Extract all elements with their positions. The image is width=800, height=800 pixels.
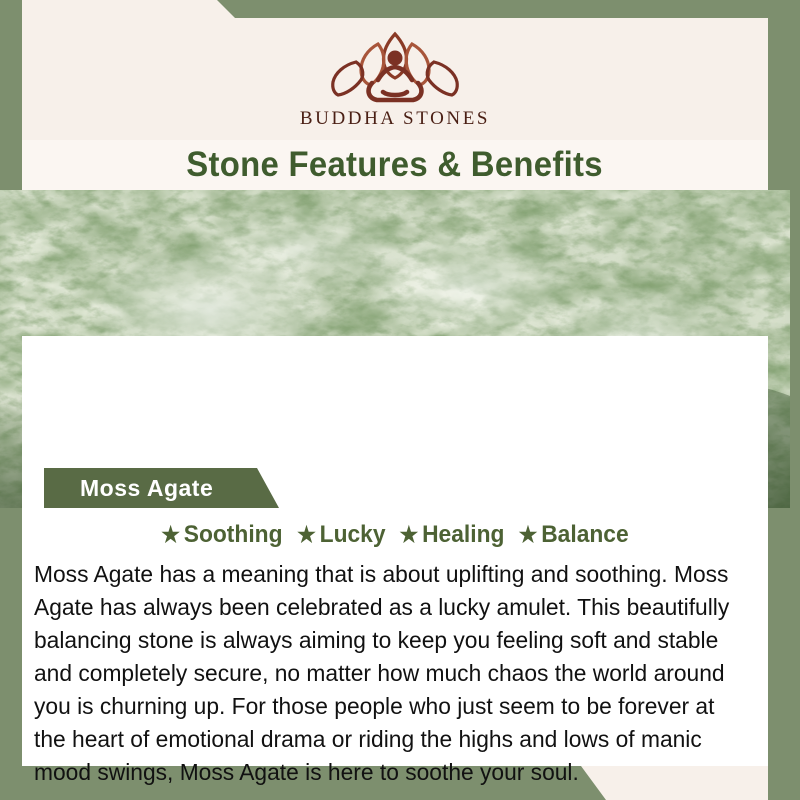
- page-title: Stone Features & Benefits: [187, 145, 604, 185]
- keyword-balance: ★ Balance: [510, 521, 629, 549]
- frame-top-accent: [0, 0, 800, 18]
- keyword-label: Balance: [541, 521, 628, 549]
- keyword-label: Healing: [422, 521, 504, 549]
- lotus-meditation-icon: [320, 28, 470, 106]
- keyword-label: Lucky: [319, 521, 385, 549]
- star-icon: ★: [519, 524, 538, 546]
- brand-header: BUDDHA STONES: [22, 18, 768, 140]
- poster-card: BUDDHA STONES Stone Features & Benefits: [22, 18, 768, 766]
- keyword-label: Soothing: [184, 521, 283, 549]
- headline-band: Stone Features & Benefits: [22, 140, 768, 190]
- stone-name-ribbon: Moss Agate: [44, 468, 279, 508]
- star-icon: ★: [399, 524, 418, 546]
- stone-name-label: Moss Agate: [44, 475, 213, 502]
- star-icon: ★: [161, 524, 180, 546]
- keyword-soothing: ★ Soothing: [161, 521, 282, 549]
- star-icon: ★: [297, 524, 316, 546]
- product-info-poster: BUDDHA STONES Stone Features & Benefits: [0, 0, 800, 800]
- benefit-keyword-row: ★ Soothing ★ Lucky ★ Healing ★ Balance: [22, 521, 768, 549]
- stone-description: Moss Agate has a meaning that is about u…: [34, 558, 734, 789]
- content-panel: ★ Soothing ★ Lucky ★ Healing ★ Balance M…: [22, 336, 768, 766]
- keyword-healing: ★ Healing: [391, 521, 504, 549]
- keyword-lucky: ★ Lucky: [288, 521, 385, 549]
- brand-name: BUDDHA STONES: [300, 108, 490, 130]
